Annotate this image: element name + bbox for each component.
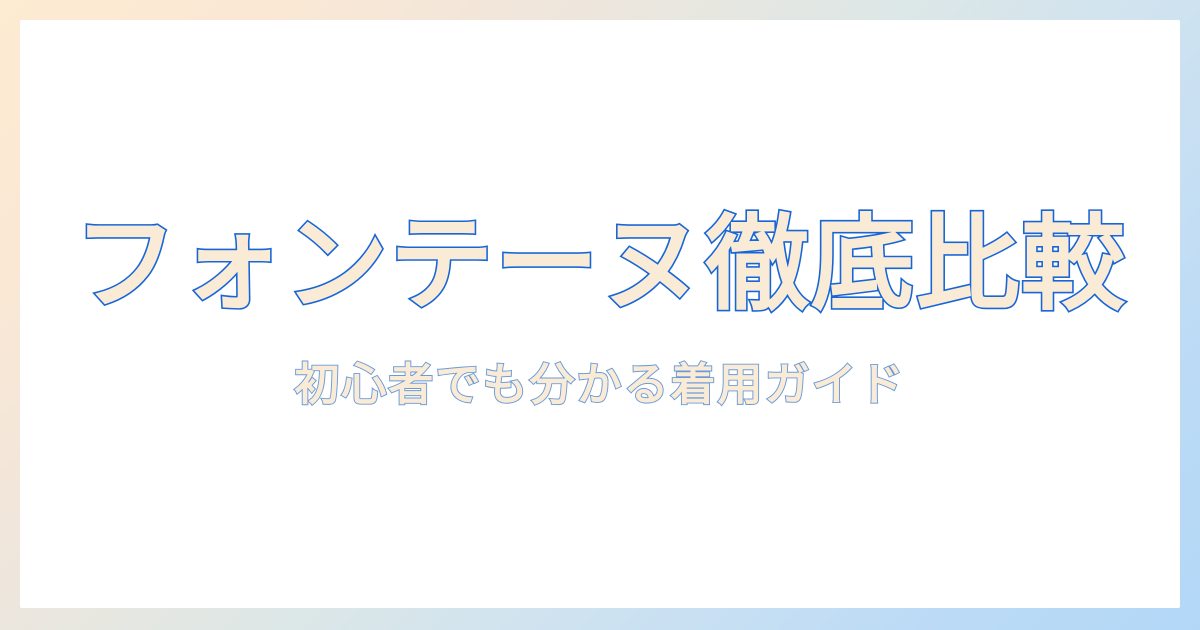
page-subtitle: 初心者でも分かる着用ガイド [20, 358, 1180, 412]
white-card: フォンテーヌ徹底比較 初心者でも分かる着用ガイド [20, 20, 1180, 608]
banner-root: フォンテーヌ徹底比較 初心者でも分かる着用ガイド [0, 0, 1200, 630]
title-block: フォンテーヌ徹底比較 [20, 206, 1180, 322]
page-title: フォンテーヌ徹底比較 [20, 206, 1180, 322]
banner-content: フォンテーヌ徹底比較 初心者でも分かる着用ガイド [20, 20, 1180, 608]
subtitle-block: 初心者でも分かる着用ガイド [20, 358, 1180, 412]
